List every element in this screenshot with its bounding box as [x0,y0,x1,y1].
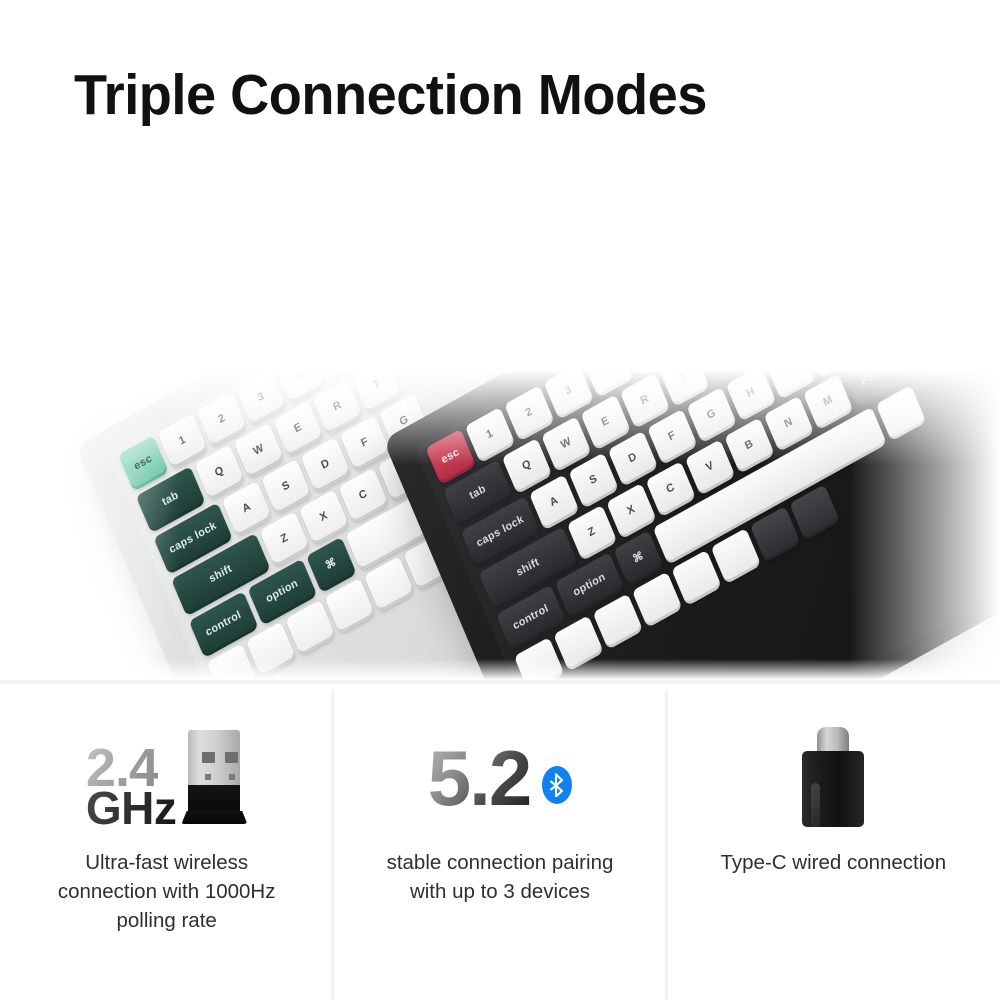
usb-dongle-hole-left [202,752,215,763]
bluetooth-lockup: 5.2 [428,743,572,813]
ghz-lockup: 2.4 GHz [86,728,248,828]
feature-bluetooth-52: 5.2 stable connection pairing with up to… [333,684,666,1000]
feature-visual-type-c [802,722,864,834]
feature-visual-24ghz: 2.4 GHz [86,722,248,834]
feature-caption-24ghz: Ultra-fast wireless connection with 1000… [41,848,293,935]
usb-dongle-dot-right [229,774,235,780]
usb-dongle-hole-right [225,752,238,763]
value-52: 5.2 [428,743,530,813]
ghz-text: 2.4 GHz [86,746,177,828]
usb-dongle-base [181,811,247,824]
type-c-body [802,751,864,827]
usb-dongle-dot-left [205,774,211,780]
usb-dongle-icon [181,728,247,828]
feature-type-c: Type-C wired connection [667,684,1000,1000]
usb-type-c-icon [802,727,864,829]
feature-caption-bluetooth: stable connection pairing with up to 3 d… [374,848,626,906]
features-row: 2.4 GHz Ultra-fast wireless connection w… [0,684,1000,1000]
feature-visual-bluetooth: 5.2 [428,722,572,834]
keyboards-image: esc 1 2 3 4 5 tab Q W E R T caps lock [0,215,1000,682]
bluetooth-icon [542,766,572,804]
usb-dongle-connector [188,730,240,786]
type-c-highlight [811,783,820,839]
feature-caption-type-c: Type-C wired connection [707,848,959,877]
feature-wireless-24ghz: 2.4 GHz Ultra-fast wireless connection w… [0,684,333,1000]
page-title: Triple Connection Modes [74,67,707,124]
value-ghz: GHz [86,790,177,828]
hero-section: esc 1 2 3 4 5 tab Q W E R T caps lock [0,0,1000,682]
